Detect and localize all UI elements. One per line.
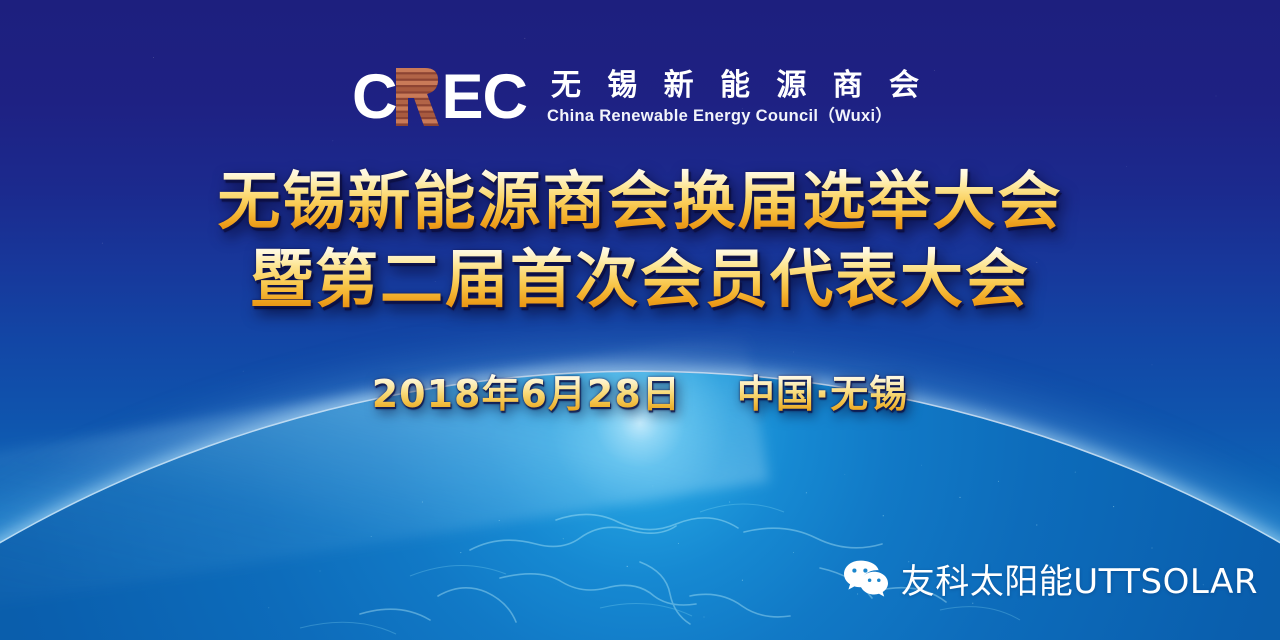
- crec-logo: C: [0, 66, 1280, 128]
- event-title-line-2: 暨第二届首次会员代表大会: [0, 241, 1280, 319]
- city-lights-texture: [0, 410, 1280, 640]
- event-title-line-1: 无锡新能源商会换届选举大会: [0, 163, 1280, 241]
- event-title: 无锡新能源商会换届选举大会 暨第二届首次会员代表大会: [0, 163, 1280, 319]
- watermark-text: 友科太阳能UTTSOLAR: [901, 565, 1258, 599]
- org-name-chinese: 无 锡 新 能 源 商 会: [547, 69, 928, 103]
- event-meta: 2018年6月28日 中国·无锡: [0, 373, 1280, 417]
- logo-letter-e: E: [441, 66, 482, 129]
- organization-name-block: 无 锡 新 能 源 商 会 China Renewable Energy Cou…: [547, 67, 928, 126]
- striped-r-icon: [394, 68, 440, 126]
- logo-letter-r-striped: [394, 68, 440, 126]
- logo-letter-c-first: C: [352, 66, 397, 129]
- coastline-overlay: [0, 400, 1280, 640]
- wechat-icon: [843, 559, 889, 604]
- event-date: 2018年6月28日: [372, 373, 681, 417]
- crec-wordmark: C: [352, 66, 527, 128]
- logo-letter-c-last: C: [483, 66, 528, 129]
- conference-banner: C: [0, 0, 1280, 640]
- org-name-english: China Renewable Energy Council（Wuxi）: [547, 106, 928, 127]
- wechat-watermark: 友科太阳能UTTSOLAR: [843, 559, 1258, 604]
- event-location: 中国·无锡: [737, 373, 908, 417]
